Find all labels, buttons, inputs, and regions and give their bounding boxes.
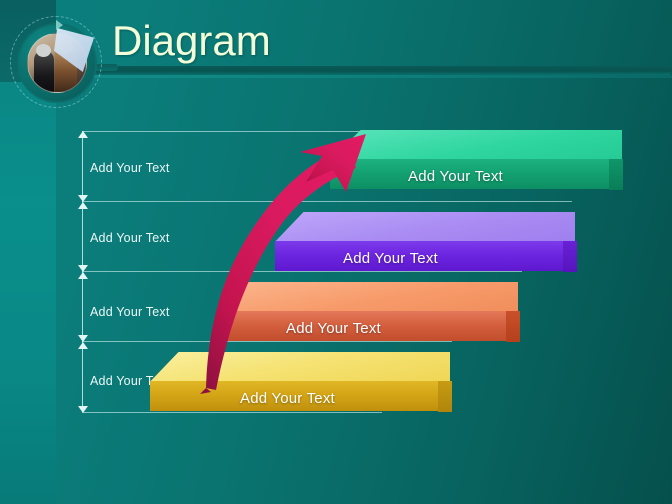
axis-arrow-down-3 xyxy=(78,335,88,342)
axis-arrow-up-3 xyxy=(78,342,88,349)
axis-label-2: Add Your Text xyxy=(90,305,170,319)
axis-arrow-down-4 xyxy=(78,406,88,413)
green-right-bevel xyxy=(609,159,623,190)
axis-segment-1 xyxy=(82,131,83,201)
axis-arrow-up-2 xyxy=(78,272,88,279)
title-divider-bar xyxy=(56,66,672,75)
axis-segment-4 xyxy=(82,341,83,412)
axis-segment-2 xyxy=(82,201,83,271)
green-step-label: Add Your Text xyxy=(408,168,503,185)
growth-arrow-icon xyxy=(170,126,370,396)
axis-label-1: Add Your Text xyxy=(90,231,170,245)
page-title: Diagram xyxy=(112,17,271,65)
yellow-right-bevel xyxy=(438,381,452,412)
photo-figure-left-head xyxy=(36,44,51,57)
step-slab-green[interactable]: Add Your Text xyxy=(330,130,622,192)
axis-segment-3 xyxy=(82,271,83,341)
axis-arrow-down-2 xyxy=(78,265,88,272)
axis-arrow-up-0 xyxy=(78,131,88,138)
slide-canvas: Diagram Add Your Text Add Your Text Add … xyxy=(0,0,672,504)
purple-right-bevel xyxy=(563,241,577,272)
axis-label-0: Add Your Text xyxy=(90,161,170,175)
orange-right-bevel xyxy=(506,311,520,342)
logo-badge xyxy=(8,14,108,114)
axis-arrow-down-1 xyxy=(78,195,88,202)
title-divider-highlight xyxy=(60,75,672,78)
logo-caret-icon xyxy=(56,20,63,30)
axis-arrow-up-1 xyxy=(78,202,88,209)
